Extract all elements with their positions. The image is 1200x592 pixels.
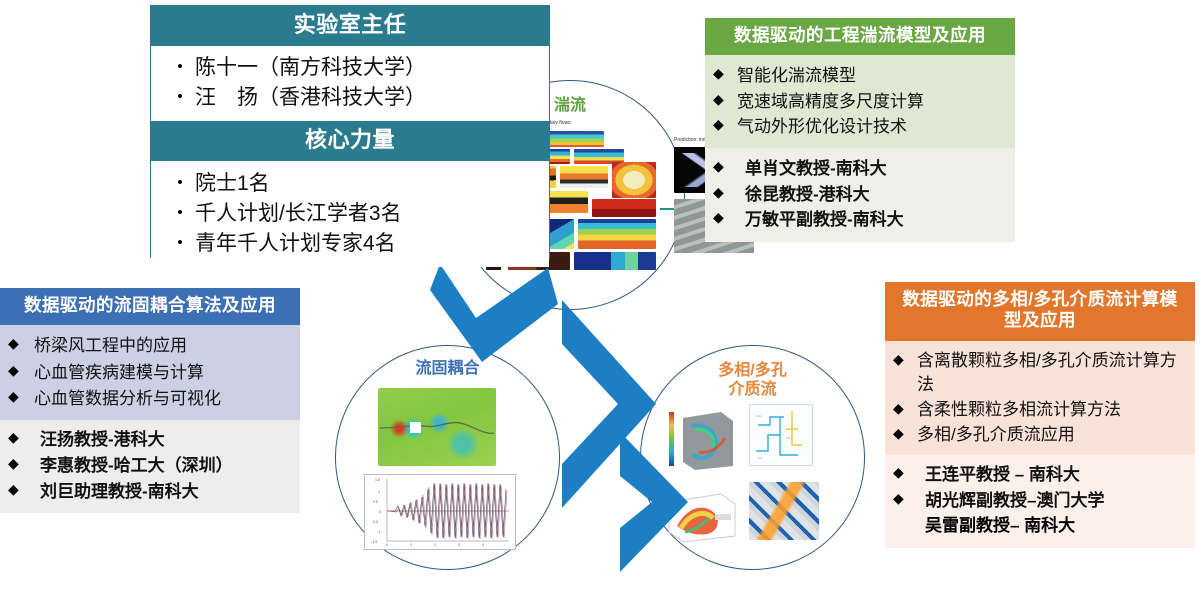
svg-text:4: 4 <box>482 543 484 547</box>
svg-text:3: 3 <box>458 543 460 547</box>
circle-multiphase-label: 多相/多孔 介质流 <box>641 362 864 400</box>
list-item-label: 院士1名 <box>195 169 541 199</box>
list-item: • 青年千人计划专家4名 <box>165 229 541 259</box>
list-item: ◆ 智能化湍流模型 <box>713 63 1009 88</box>
diamond-bullet-icon: ◆ <box>713 114 737 135</box>
list-item-label: 王连平教授 – 南科大 <box>917 462 1189 488</box>
mp-schematic-tile: inletunitout <box>749 404 813 466</box>
list-item: • 陈十一（南方科技大学） <box>165 53 541 83</box>
diamond-bullet-icon: ◆ <box>713 182 737 203</box>
diamond-bullet-icon: ◆ <box>893 349 917 369</box>
chevron-multiphase-to-fsi <box>592 432 702 582</box>
list-item-label: 多相/多孔介质流应用 <box>917 423 1189 448</box>
list-item: ◆ 单肖文教授-南科大 <box>713 156 1009 182</box>
list-item-label: 刘巨助理教授-南科大 <box>34 479 294 505</box>
bullet-icon: • <box>165 53 195 82</box>
list-item-label: 智能化湍流模型 <box>737 63 1009 88</box>
fsi-topics: ◆ 桥梁风工程中的应用 ◆ 心血管疾病建模与计算 ◆ 心血管数据分析与可视化 <box>0 325 300 420</box>
diamond-bullet-icon: ◆ <box>8 333 34 355</box>
list-item-label: 含离散颗粒多相/多孔介质流计算方法 <box>917 349 1189 398</box>
multiphase-topics: ◆ 含离散颗粒多相/多孔介质流计算方法 ◆ 含柔性颗粒多相流计算方法 ◆ 多相/… <box>885 341 1195 456</box>
diamond-bullet-icon: ◆ <box>713 89 737 110</box>
panel-multiphase: 数据驱动的多相/多孔介质流计算模型及应用 ◆ 含离散颗粒多相/多孔介质流计算方法… <box>885 282 1195 590</box>
lab-director-header: 实验室主任 <box>151 6 549 46</box>
svg-text:-1: -1 <box>377 530 380 534</box>
panel-fsi: 数据驱动的流固耦合算法及应用 ◆ 桥梁风工程中的应用 ◆ 心血管疾病建模与计算 … <box>0 288 300 565</box>
list-item: ◆ 王连平教授 – 南科大 <box>893 462 1189 488</box>
chevron-fsi-to-turbulence <box>430 262 560 372</box>
bullet-icon: • <box>165 229 195 258</box>
list-item-label: 千人计划/长江学者3名 <box>195 199 541 229</box>
flow-tile <box>544 191 588 213</box>
list-item-label: 气动外形优化设计技术 <box>737 114 1009 139</box>
svg-text:1: 1 <box>378 490 380 494</box>
list-item: ◆ 含离散颗粒多相/多孔介质流计算方法 <box>893 349 1189 398</box>
list-item: • 千人计划/长江学者3名 <box>165 199 541 229</box>
list-item-label: 宽速域高精度多尺度计算 <box>737 89 1009 114</box>
circle-multiphase-label-line1: 多相/多孔 <box>718 362 786 379</box>
circle-fsi: 流固耦合 1.510.5 0-0.5-1-1.5 01234 <box>335 345 560 570</box>
circle-multiphase-label-line2: 介质流 <box>728 381 776 398</box>
fsi-oscillation-plot: 1.510.5 0-0.5-1-1.5 01234 <box>364 474 516 550</box>
list-item: ◆ 万敏平副教授-南科大 <box>713 207 1009 233</box>
list-item: ◆ 汪扬教授-港科大 <box>8 427 294 453</box>
lab-director-list: • 陈十一（南方科技大学） • 汪 扬（香港科技大学） <box>151 46 549 121</box>
list-item-label: 心血管数据分析与可视化 <box>34 386 294 413</box>
fsi-people: ◆ 汪扬教授-港科大 ◆ 李惠教授-哈工大（深圳） ◆ 刘巨助理教授-南科大 <box>0 420 300 513</box>
list-item: ◆ 徐昆教授-港科大 <box>713 182 1009 208</box>
list-item: ◆ 李惠教授-哈工大（深圳） <box>8 453 294 479</box>
list-item-label: 青年千人计划专家4名 <box>195 229 541 259</box>
list-item-label: 吴雷副教授– 南科大 <box>893 513 1189 539</box>
list-item: ◆ 气动外形优化设计技术 <box>713 114 1009 139</box>
diamond-bullet-icon: ◆ <box>713 63 737 84</box>
lab-strength-list: • 院士1名 • 千人计划/长江学者3名 • 青年千人计划专家4名 <box>151 162 549 266</box>
svg-text:-1.5: -1.5 <box>371 540 377 544</box>
list-item: • 汪 扬（香港科技大学） <box>165 83 541 113</box>
turbulence-title: 数据驱动的工程湍流模型及应用 <box>705 18 1015 55</box>
list-item-label: 汪扬教授-港科大 <box>34 427 294 453</box>
list-item-label: 单肖文教授-南科大 <box>737 156 1009 182</box>
slide-canvas: 湍流 Training: data from elementary flows … <box>0 0 1200 592</box>
bullet-icon: • <box>165 199 195 228</box>
flow-tile <box>612 162 656 198</box>
diamond-bullet-icon: ◆ <box>8 479 34 500</box>
mp-porous-tile <box>749 482 819 540</box>
panel-lab-leadership: 实验室主任 • 陈十一（南方科技大学） • 汪 扬（香港科技大学） 核心力量 •… <box>150 5 550 258</box>
diamond-bullet-icon: ◆ <box>893 398 917 418</box>
diamond-bullet-icon: ◆ <box>893 423 917 443</box>
list-item-label: 万敏平副教授-南科大 <box>737 207 1009 233</box>
list-item: • 院士1名 <box>165 169 541 199</box>
lab-strength-header: 核心力量 <box>151 120 549 162</box>
list-item: ◆ 桥梁风工程中的应用 <box>8 333 294 360</box>
list-item-label: 李惠教授-哈工大（深圳） <box>34 453 294 479</box>
svg-text:out: out <box>758 456 762 460</box>
multiphase-title: 数据驱动的多相/多孔介质流计算模型及应用 <box>885 282 1195 341</box>
list-item: ◆ 含柔性颗粒多相流计算方法 <box>893 398 1189 423</box>
list-item-label: 桥梁风工程中的应用 <box>34 333 294 360</box>
svg-text:unit: unit <box>786 436 791 440</box>
fsi-title: 数据驱动的流固耦合算法及应用 <box>0 288 300 325</box>
list-item-label: 胡光辉副教授–澳门大学 <box>917 488 1189 514</box>
list-item: ◆ 多相/多孔介质流应用 <box>893 423 1189 448</box>
bullet-icon: • <box>165 169 195 198</box>
flow-tile <box>560 166 608 188</box>
list-item: ◆ 心血管数据分析与可视化 <box>8 386 294 413</box>
panel-turbulence: 数据驱动的工程湍流模型及应用 ◆ 智能化湍流模型 ◆ 宽速域高精度多尺度计算 ◆… <box>705 18 1015 270</box>
turbulence-topics: ◆ 智能化湍流模型 ◆ 宽速域高精度多尺度计算 ◆ 气动外形优化设计技术 <box>705 55 1015 147</box>
diamond-bullet-icon: ◆ <box>8 386 34 408</box>
fsi-flowfield-image <box>378 388 496 466</box>
svg-text:1: 1 <box>410 543 412 547</box>
turbulence-people: ◆ 单肖文教授-南科大 ◆ 徐昆教授-港科大 ◆ 万敏平副教授-南科大 <box>705 148 1015 242</box>
list-item: ◆ 刘巨助理教授-南科大 <box>8 479 294 505</box>
diamond-bullet-icon: ◆ <box>8 360 34 382</box>
svg-text:1.5: 1.5 <box>375 478 380 482</box>
svg-text:0: 0 <box>379 510 381 514</box>
diamond-bullet-icon: ◆ <box>713 156 737 177</box>
svg-text:-0.5: -0.5 <box>372 520 378 524</box>
list-item-label: 陈十一（南方科技大学） <box>195 53 541 83</box>
diamond-bullet-icon: ◆ <box>893 488 917 509</box>
list-item-label: 心血管疾病建模与计算 <box>34 360 294 387</box>
svg-text:inlet: inlet <box>756 414 762 418</box>
diamond-bullet-icon: ◆ <box>713 207 737 228</box>
bullet-icon: • <box>165 83 195 112</box>
flow-tile <box>578 219 656 249</box>
svg-text:0: 0 <box>386 543 388 547</box>
list-item-label: 汪 扬（香港科技大学） <box>195 83 541 113</box>
diamond-bullet-icon: ◆ <box>8 453 34 474</box>
list-item-label: 含柔性颗粒多相流计算方法 <box>917 398 1189 423</box>
list-item: ◆ 心血管疾病建模与计算 <box>8 360 294 387</box>
svg-text:0.5: 0.5 <box>373 500 378 504</box>
list-item: ◆ 宽速域高精度多尺度计算 <box>713 89 1009 114</box>
svg-text:2: 2 <box>434 543 436 547</box>
multiphase-people: ◆ 王连平教授 – 南科大 ◆ 胡光辉副教授–澳门大学 吴雷副教授– 南科大 <box>885 455 1195 548</box>
flow-tile <box>592 199 656 217</box>
flow-tile <box>574 252 656 270</box>
list-item-label: 徐昆教授-港科大 <box>737 182 1009 208</box>
diamond-bullet-icon: ◆ <box>893 462 917 483</box>
flow-tile <box>548 131 604 147</box>
list-item: ◆ 胡光辉副教授–澳门大学 <box>893 488 1189 514</box>
diamond-bullet-icon: ◆ <box>8 427 34 448</box>
